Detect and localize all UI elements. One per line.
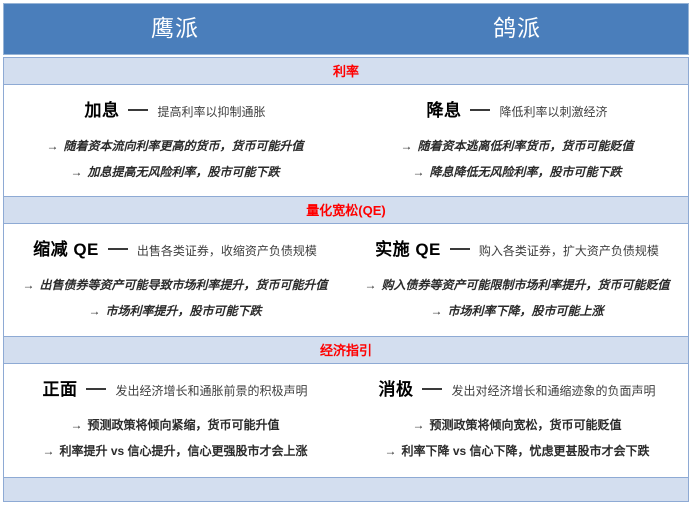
list-item: →市场利率下降，股市可能上涨 xyxy=(430,302,603,319)
arrow-right-icon: → xyxy=(70,418,82,432)
list-item: →预测政策将倾向紧缩，货币可能升值 xyxy=(70,416,279,433)
entry-description: 发出对经济增长和通缩迹象的负面声明 xyxy=(451,382,655,399)
section-title-interest-rate: 利率 xyxy=(333,65,359,78)
entry-heading: 降息 降低利率以刺激经济 xyxy=(426,96,607,121)
arrow-right-icon: → xyxy=(412,165,424,179)
list-item-text: 购入债券等资产可能限制市场利率提升，货币可能贬值 xyxy=(381,278,669,292)
section-content-qe: 缩减 QE 出售各类证券，收缩资产负债规模 →出售债券等资产可能导致市场利率提升… xyxy=(3,224,689,336)
section-2-column-dovish: 消极 发出对经济增长和通缩迹象的负面声明 →预测政策将倾向宽松，货币可能贬值 →… xyxy=(346,364,688,477)
list-item: →随着资本流向利率更高的货币，货币可能升值 xyxy=(46,137,303,154)
bottom-band xyxy=(3,477,689,502)
entry-term: 降息 xyxy=(426,96,461,121)
header-column-dovish: 鸽派 xyxy=(346,4,688,54)
list-item-text: 利率下降 vs 信心下降，忧虑更甚股市才会下跌 xyxy=(401,444,649,458)
section-content-interest-rate: 加息 提高利率以抑制通胀 →随着资本流向利率更高的货币，货币可能升值 →加息提高… xyxy=(3,85,689,196)
list-item-text: 预测政策将倾向紧缩，货币可能升值 xyxy=(87,418,279,432)
entry-term: 消极 xyxy=(378,375,413,400)
list-item-text: 随着资本流向利率更高的货币，货币可能升值 xyxy=(63,139,303,153)
header-label-hawkish: 鹰派 xyxy=(151,17,199,40)
entry-heading: 缩减 QE 出售各类证券，收缩资产负债规模 xyxy=(33,235,317,260)
entry-description: 降低利率以刺激经济 xyxy=(499,103,607,120)
section-0-column-dovish: 降息 降低利率以刺激经济 →随着资本逃离低利率货币，货币可能贬值 →降息降低无风… xyxy=(346,85,688,196)
entry-description: 购入各类证券，扩大资产负债规模 xyxy=(479,242,659,259)
entry-term: 正面 xyxy=(42,375,77,400)
section-title-forward-guidance: 经济指引 xyxy=(320,344,372,357)
arrow-right-icon: → xyxy=(384,444,396,458)
arrow-right-icon: → xyxy=(22,278,34,292)
em-dash-icon xyxy=(422,388,442,390)
entry-description: 提高利率以抑制通胀 xyxy=(157,103,265,120)
section-0-column-hawkish: 加息 提高利率以抑制通胀 →随着资本流向利率更高的货币，货币可能升值 →加息提高… xyxy=(4,85,346,196)
list-item-text: 预测政策将倾向宽松，货币可能贬值 xyxy=(429,418,621,432)
list-item: →购入债券等资产可能限制市场利率提升，货币可能贬值 xyxy=(364,276,669,293)
entry-description: 出售各类证券，收缩资产负债规模 xyxy=(137,242,317,259)
em-dash-icon xyxy=(108,248,128,250)
arrow-right-icon: → xyxy=(70,165,82,179)
section-band-interest-rate: 利率 xyxy=(3,57,689,85)
list-item: →市场利率提升，股市可能下跌 xyxy=(88,302,261,319)
entry-term: 加息 xyxy=(84,96,119,121)
list-item-text: 出售债券等资产可能导致市场利率提升，货币可能升值 xyxy=(39,278,327,292)
entry-heading: 加息 提高利率以抑制通胀 xyxy=(84,96,265,121)
list-item-text: 市场利率下降，股市可能上涨 xyxy=(447,304,603,318)
list-item-text: 利率提升 vs 信心提升，信心更强股市才会上涨 xyxy=(59,444,307,458)
entry-term: 缩减 QE xyxy=(33,235,99,260)
entry-description: 发出经济增长和通胀前景的积极声明 xyxy=(115,382,307,399)
arrow-right-icon: → xyxy=(412,418,424,432)
em-dash-icon xyxy=(86,388,106,390)
header-column-hawkish: 鹰派 xyxy=(4,4,346,54)
list-item: →加息提高无风险利率，股市可能下跌 xyxy=(70,163,279,180)
section-title-qe: 量化宽松(QE) xyxy=(306,204,385,217)
entry-heading: 正面 发出经济增长和通胀前景的积极声明 xyxy=(42,375,307,400)
comparison-table: 鹰派 鸽派 利率 加息 提高利率以抑制通胀 →随着资本流向利率更高的货币，货币可… xyxy=(0,0,692,505)
list-item: →降息降低无风险利率，股市可能下跌 xyxy=(412,163,621,180)
arrow-right-icon: → xyxy=(88,304,100,318)
list-item: →出售债券等资产可能导致市场利率提升，货币可能升值 xyxy=(22,276,327,293)
arrow-right-icon: → xyxy=(46,139,58,153)
table-header-row: 鹰派 鸽派 xyxy=(3,3,689,55)
list-item-text: 加息提高无风险利率，股市可能下跌 xyxy=(87,165,279,179)
list-item-text: 市场利率提升，股市可能下跌 xyxy=(105,304,261,318)
section-band-forward-guidance: 经济指引 xyxy=(3,336,689,364)
section-band-qe: 量化宽松(QE) xyxy=(3,196,689,224)
section-1-column-hawkish: 缩减 QE 出售各类证券，收缩资产负债规模 →出售债券等资产可能导致市场利率提升… xyxy=(4,224,346,336)
arrow-right-icon: → xyxy=(400,139,412,153)
em-dash-icon xyxy=(128,109,148,111)
list-item: →预测政策将倾向宽松，货币可能贬值 xyxy=(412,416,621,433)
list-item: →随着资本逃离低利率货币，货币可能贬值 xyxy=(400,137,633,154)
section-1-column-dovish: 实施 QE 购入各类证券，扩大资产负债规模 →购入债券等资产可能限制市场利率提升… xyxy=(346,224,688,336)
arrow-right-icon: → xyxy=(42,444,54,458)
em-dash-icon xyxy=(470,109,490,111)
list-item-text: 降息降低无风险利率，股市可能下跌 xyxy=(429,165,621,179)
header-label-dovish: 鸽派 xyxy=(493,17,541,40)
entry-heading: 实施 QE 购入各类证券，扩大资产负债规模 xyxy=(375,235,659,260)
arrow-right-icon: → xyxy=(430,304,442,318)
list-item: →利率下降 vs 信心下降，忧虑更甚股市才会下跌 xyxy=(384,442,649,459)
section-2-column-hawkish: 正面 发出经济增长和通胀前景的积极声明 →预测政策将倾向紧缩，货币可能升值 →利… xyxy=(4,364,346,477)
entry-heading: 消极 发出对经济增长和通缩迹象的负面声明 xyxy=(378,375,655,400)
arrow-right-icon: → xyxy=(364,278,376,292)
section-content-forward-guidance: 正面 发出经济增长和通胀前景的积极声明 →预测政策将倾向紧缩，货币可能升值 →利… xyxy=(3,364,689,477)
list-item-text: 随着资本逃离低利率货币，货币可能贬值 xyxy=(417,139,633,153)
list-item: →利率提升 vs 信心提升，信心更强股市才会上涨 xyxy=(42,442,307,459)
entry-term: 实施 QE xyxy=(375,235,441,260)
em-dash-icon xyxy=(450,248,470,250)
